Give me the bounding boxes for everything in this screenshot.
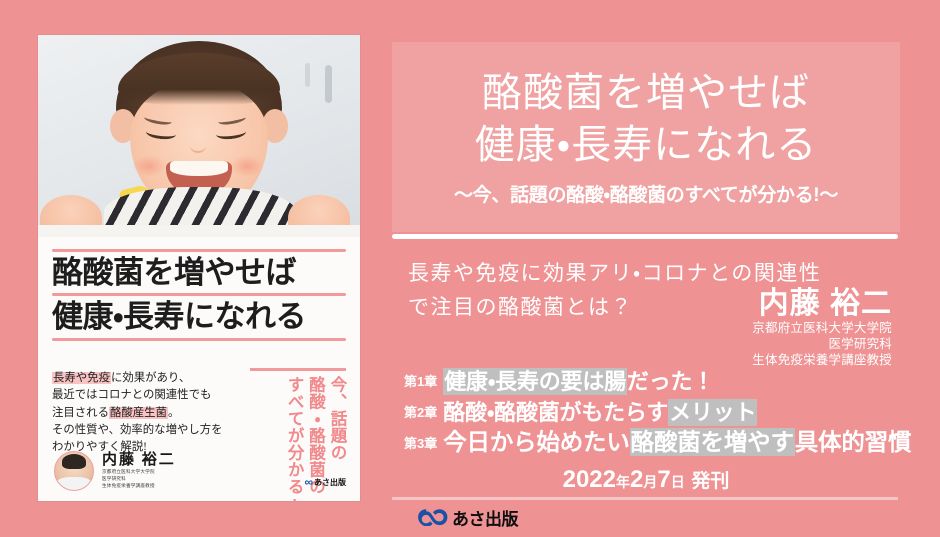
release-year: 2022 xyxy=(563,466,616,493)
cover-rule-bottom xyxy=(52,338,346,341)
chapter-title: 今日から始めたい酪酸菌を増やす具体的習慣 xyxy=(443,429,911,456)
photo-child-nose xyxy=(190,139,206,153)
photo-child-teeth xyxy=(170,161,228,176)
headline-block: 酪酸菌を増やせば 健康・長寿になれる 〜今、話題の酪酸・酪酸菌のすべてが分かる!… xyxy=(392,42,900,232)
photo-child-cheek-left xyxy=(132,155,166,177)
release-year-unit: 年 xyxy=(616,474,630,490)
cover-publisher-name: あさ出版 xyxy=(314,477,346,488)
release-month-unit: 月 xyxy=(643,474,657,490)
chapter-title: 健康・長寿の要は腸だった！ xyxy=(443,369,714,394)
chapter-title-pre: 今日から始めたい xyxy=(443,429,629,455)
release-date: 2022年2月7日 発刊 xyxy=(392,466,900,494)
headline-line-2: 健康・長寿になれる xyxy=(475,119,818,170)
photo-table-surface xyxy=(38,225,360,237)
infinity-logo-icon xyxy=(418,509,448,526)
cover-title-block: 酪酸菌を増やせば 健康・長寿になれる xyxy=(52,245,346,345)
cover-author-badge: 内藤 裕二 京都府立医科大学大学院 医学研究科 生体免疫栄養学講座教授 xyxy=(54,451,176,491)
divider-bottom xyxy=(392,497,898,500)
chapter-row: 第3章 今日から始めたい酪酸菌を増やす具体的習慣 xyxy=(404,425,900,456)
author-block: 内藤 裕二 京都府立医科大学大学院 医学研究科 生体免疫栄養学講座教授 xyxy=(662,288,892,368)
promo-right-panel: 酪酸菌を増やせば 健康・長寿になれる 〜今、話題の酪酸・酪酸菌のすべてが分かる!… xyxy=(392,0,900,537)
publisher-name: あさ出版 xyxy=(452,505,518,530)
release-word: 発刊 xyxy=(691,471,729,492)
cover-author-credential-2: 医学研究科 xyxy=(102,476,176,483)
chapter-title-post: 具体的習慣 xyxy=(795,429,912,455)
release-month: 2 xyxy=(630,466,643,493)
cover-publisher-logo: ∞ あさ出版 xyxy=(304,475,346,489)
chapter-title-highlight: メリット xyxy=(668,399,757,426)
cover-author-credential-3: 生体免疫栄養学講座教授 xyxy=(102,483,176,490)
cover-blurb-line-3: 注目される酪酸産生菌。 xyxy=(52,405,240,422)
cover-blurb-highlight-1: 長寿や免疫 xyxy=(52,372,111,384)
chapter-title-highlight: 酪酸菌を増やす xyxy=(630,428,795,456)
cover-child-photo xyxy=(38,35,360,237)
release-day: 7 xyxy=(657,466,670,493)
cover-blurb: 長寿や免疫に効果があり、 最近ではコロナとの関連性でも 注目される酪酸産生菌。 … xyxy=(52,370,240,457)
cover-author-name: 内藤 裕二 xyxy=(102,452,176,469)
cover-title-line-2: 健康・長寿になれる xyxy=(52,300,346,333)
divider-top xyxy=(392,234,898,239)
cover-rule-middle xyxy=(52,293,346,296)
promo-banner: 酪酸菌を増やせば 健康・長寿になれる 長寿や免疫に効果があり、 最近ではコロナと… xyxy=(0,0,940,537)
cover-blurb-line-1: 長寿や免疫に効果があり、 xyxy=(52,370,240,387)
infinity-logo-icon: ∞ xyxy=(304,475,311,489)
author-name: 内藤 裕二 xyxy=(662,288,892,320)
cover-blurb-line-3-post: 。 xyxy=(168,407,179,419)
chapter-number: 第1章 xyxy=(404,371,437,394)
cover-blurb-line-2: 最近ではコロナとの関連性でも xyxy=(52,387,240,404)
cover-author-text: 内藤 裕二 京都府立医科大学大学院 医学研究科 生体免疫栄養学講座教授 xyxy=(102,452,176,489)
chapter-row: 第2章 酪酸・酪酸菌がもたらすメリット xyxy=(404,394,900,425)
cover-blurb-highlight-2: 酪酸産生菌 xyxy=(109,407,168,419)
cover-author-avatar xyxy=(54,451,94,491)
cover-rule-top xyxy=(52,249,346,252)
chapter-title-pre: 酪酸・酪酸菌がもたらす xyxy=(443,400,668,425)
headline-line-1: 酪酸菌を増やせば xyxy=(482,67,810,118)
chapter-row: 第1章 健康・長寿の要は腸だった！ xyxy=(404,363,900,394)
author-credential-2: 医学研究科 xyxy=(662,336,892,352)
author-credential-1: 京都府立医科大学大学院 xyxy=(662,320,892,336)
chapter-title-highlight: 健康・長寿の要は腸 xyxy=(443,368,627,395)
cover-vertical-col-3: すべてが分かる! xyxy=(285,376,303,501)
chapter-list: 第1章 健康・長寿の要は腸だった！ 第2章 酪酸・酪酸菌がもたらすメリット 第3… xyxy=(404,363,900,456)
cover-blurb-line-1-rest: に効果があり、 xyxy=(111,372,190,384)
chapter-number: 第3章 xyxy=(404,433,437,456)
book-cover: 酪酸菌を増やせば 健康・長寿になれる 長寿や免疫に効果があり、 最近ではコロナと… xyxy=(38,35,360,501)
publisher-logo: あさ出版 xyxy=(418,505,518,530)
chapter-title-post: だった！ xyxy=(627,369,714,394)
release-day-unit: 日 xyxy=(671,474,685,490)
chapter-title: 酪酸・酪酸菌がもたらすメリット xyxy=(443,400,757,425)
lede-line-1: 長寿や免疫に効果アリ・コロナとの関連性 xyxy=(408,256,900,290)
cover-title-line-1: 酪酸菌を増やせば xyxy=(52,256,346,289)
chapter-number: 第2章 xyxy=(404,402,437,425)
cover-blurb-line-3-pre: 注目される xyxy=(52,407,109,419)
photo-wall-hook xyxy=(325,65,332,103)
cover-author-credential-1: 京都府立医科大学大学院 xyxy=(102,469,176,476)
cover-blurb-line-4: その性質や、効率的な増やし方を xyxy=(52,422,240,439)
photo-child-cheek-right xyxy=(230,155,264,177)
headline-subtitle: 〜今、話題の酪酸・酪酸菌のすべてが分かる!〜 xyxy=(454,180,838,207)
photo-wall-hook-small xyxy=(305,63,310,87)
